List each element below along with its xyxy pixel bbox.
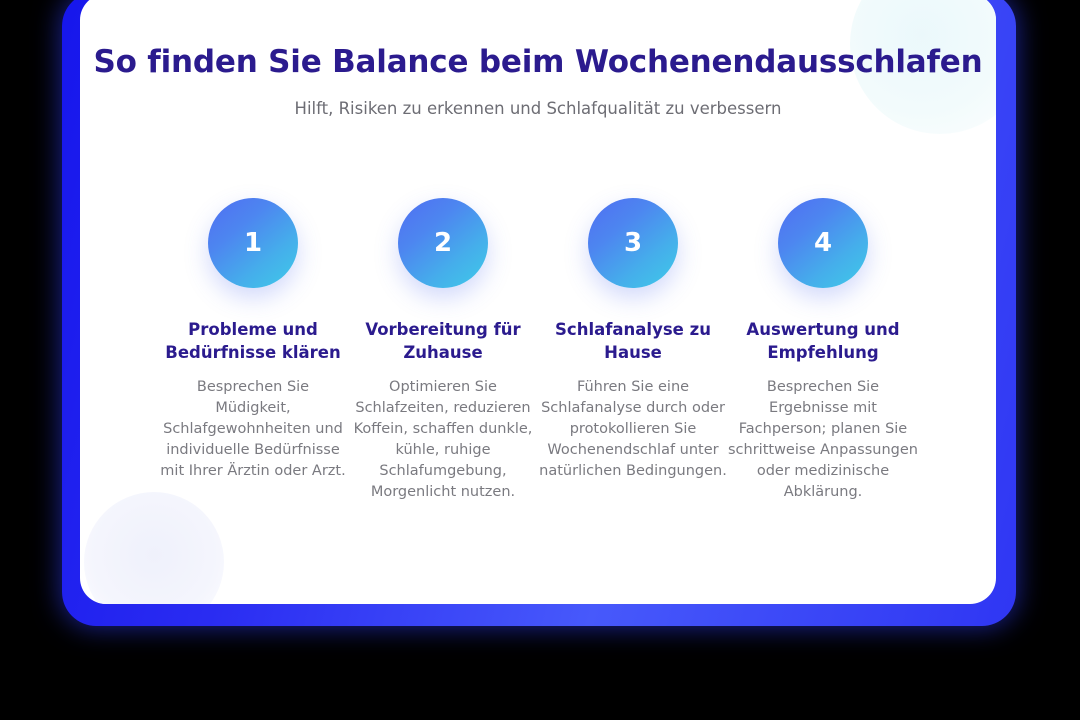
decorative-blob-bottom-left	[84, 492, 224, 604]
steps-row: 1 Probleme und Bedürfnisse klären Bespre…	[80, 198, 996, 503]
step-badge-2: 2	[398, 198, 488, 288]
step-item-1: 1 Probleme und Bedürfnisse klären Bespre…	[158, 198, 348, 482]
step-badge-3: 3	[588, 198, 678, 288]
step-title-3: Schlafanalyse zu Hause	[538, 318, 728, 364]
card-header: So finden Sie Balance beim Wochenendauss…	[80, 0, 996, 120]
step-title-2: Vorbereitung für Zuhause	[348, 318, 538, 364]
step-number-3: 3	[624, 230, 642, 256]
page-title: So finden Sie Balance beim Wochenendauss…	[80, 42, 996, 82]
step-description-4: Besprechen Sie Ergebnisse mit Fachperson…	[728, 377, 918, 503]
step-badge-1: 1	[208, 198, 298, 288]
step-item-4: 4 Auswertung und Empfehlung Besprechen S…	[728, 198, 918, 503]
step-description-3: Führen Sie eine Schlafanalyse durch oder…	[538, 377, 728, 482]
step-description-1: Besprechen Sie Müdigkeit, Schlafgewohnhe…	[158, 377, 348, 482]
infographic-card: So finden Sie Balance beim Wochenendauss…	[80, 0, 996, 604]
screenshot-stage: So finden Sie Balance beim Wochenendauss…	[0, 0, 1080, 720]
step-item-2: 2 Vorbereitung für Zuhause Optimieren Si…	[348, 198, 538, 503]
page-subtitle: Hilft, Risiken zu erkennen und Schlafqua…	[80, 98, 996, 120]
step-number-2: 2	[434, 230, 452, 256]
step-number-4: 4	[814, 230, 832, 256]
step-title-4: Auswertung und Empfehlung	[728, 318, 918, 364]
step-item-3: 3 Schlafanalyse zu Hause Führen Sie eine…	[538, 198, 728, 482]
step-number-1: 1	[244, 230, 262, 256]
step-title-1: Probleme und Bedürfnisse klären	[158, 318, 348, 364]
step-description-2: Optimieren Sie Schlafzeiten, reduzieren …	[348, 377, 538, 503]
step-badge-4: 4	[778, 198, 868, 288]
